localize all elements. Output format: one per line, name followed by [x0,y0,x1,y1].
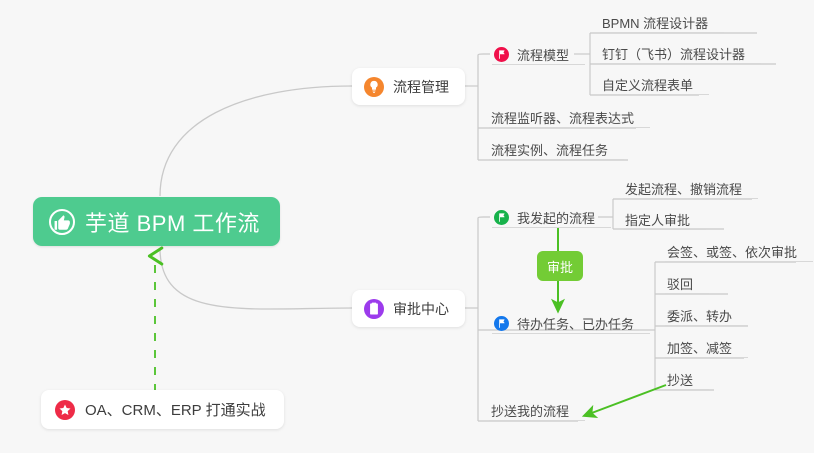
leaf-node-reject[interactable]: 驳回 [665,272,695,294]
leaf-underline [600,32,724,33]
note-label: OA、CRM、ERP 打通实战 [85,399,266,420]
leaf-node-bpmn-designer[interactable]: BPMN 流程设计器 [600,11,710,33]
leaf-label-add-remove-sign: 加签、减签 [667,338,732,357]
leaf-underline [665,357,748,358]
leaf-node-countersign[interactable]: 会签、或签、依次审批 [665,240,799,262]
branch-label-process-management: 流程管理 [393,77,449,97]
leaf-node-cc[interactable]: 抄送 [665,368,695,390]
leaf-label-process-listener: 流程监听器、流程表达式 [491,108,634,127]
leaf-underline [492,227,611,228]
leaf-label-start-cancel-process: 发起流程、撤销流程 [625,179,742,198]
leaf-node-process-listener[interactable]: 流程监听器、流程表达式 [489,106,636,128]
leaf-node-add-remove-sign[interactable]: 加签、减签 [665,336,734,358]
branch-label-approval-center: 审批中心 [393,299,449,319]
leaf-label-custom-form: 自定义流程表单 [602,75,693,94]
leaf-node-cc-to-me[interactable]: 抄送我的流程 [489,399,571,421]
leaf-underline [489,420,585,421]
leaf-underline [665,293,709,294]
branch-node-process-management[interactable]: 流程管理 [352,68,465,105]
flag-blue-icon [494,316,509,331]
topic-node-todo-done-tasks[interactable]: 待办任务、已办任务 [492,312,636,334]
leaf-label-delegate-transfer: 委派、转办 [667,306,732,325]
leaf-node-custom-form[interactable]: 自定义流程表单 [600,73,695,95]
leaf-underline [492,64,585,65]
flag-red-icon [494,47,509,62]
wire-root-to-approval-center [160,248,352,309]
flag-green-icon [494,210,509,225]
leaf-label-reject: 驳回 [667,274,693,293]
leaf-underline [665,261,813,262]
wire-pm-to-model [478,54,490,60]
thumbs-up-icon [49,209,75,235]
wire-ac-to-initiated [478,217,490,223]
leaf-underline [623,198,758,199]
leaf-node-delegate-transfer[interactable]: 委派、转办 [665,304,734,326]
note-node[interactable]: OA、CRM、ERP 打通实战 [41,390,284,429]
wire-root-to-process-management [160,86,352,196]
topic-label-todo-done-tasks: 待办任务、已办任务 [517,314,634,333]
leaf-underline [623,229,706,230]
leaf-label-assignee-approval: 指定人审批 [625,210,690,229]
leaf-underline [489,127,650,128]
lightbulb-icon [364,77,384,97]
leaf-label-dingtalk-designer: 钉钉（飞书）流程设计器 [602,44,745,63]
leaf-label-bpmn-designer: BPMN 流程设计器 [602,13,708,32]
star-icon [55,400,75,420]
leaf-label-cc-to-me: 抄送我的流程 [491,401,569,420]
leaf-label-countersign: 会签、或签、依次审批 [667,242,797,261]
leaf-underline [492,333,650,334]
mindmap-canvas: 芋道 BPM 工作流 OA、CRM、ERP 打通实战 流程管理 流程模型 BPM… [0,0,814,453]
leaf-underline [489,159,624,160]
leaf-underline [600,63,761,64]
leaf-underline [600,94,709,95]
topic-node-my-initiated[interactable]: 我发起的流程 [492,206,597,228]
root-label: 芋道 BPM 工作流 [85,206,260,238]
annotation-tag-approval[interactable]: 审批 [537,251,583,281]
leaf-label-process-instance: 流程实例、流程任务 [491,140,608,159]
root-node[interactable]: 芋道 BPM 工作流 [33,197,280,246]
topic-label-my-initiated: 我发起的流程 [517,208,595,227]
branch-node-approval-center[interactable]: 审批中心 [352,290,465,327]
arrow-cc-to-cc-process [589,385,666,414]
leaf-node-start-cancel-process[interactable]: 发起流程、撤销流程 [623,177,744,199]
topic-label-process-model: 流程模型 [517,45,569,64]
leaf-node-assignee-approval[interactable]: 指定人审批 [623,208,692,230]
leaf-underline [665,325,748,326]
topic-node-process-model[interactable]: 流程模型 [492,43,571,65]
annotation-tag-label: 审批 [547,257,573,276]
leaf-underline [665,389,709,390]
clipboard-icon [364,299,384,319]
leaf-node-process-instance[interactable]: 流程实例、流程任务 [489,138,610,160]
leaf-label-cc: 抄送 [667,370,693,389]
leaf-node-dingtalk-designer[interactable]: 钉钉（飞书）流程设计器 [600,42,747,64]
